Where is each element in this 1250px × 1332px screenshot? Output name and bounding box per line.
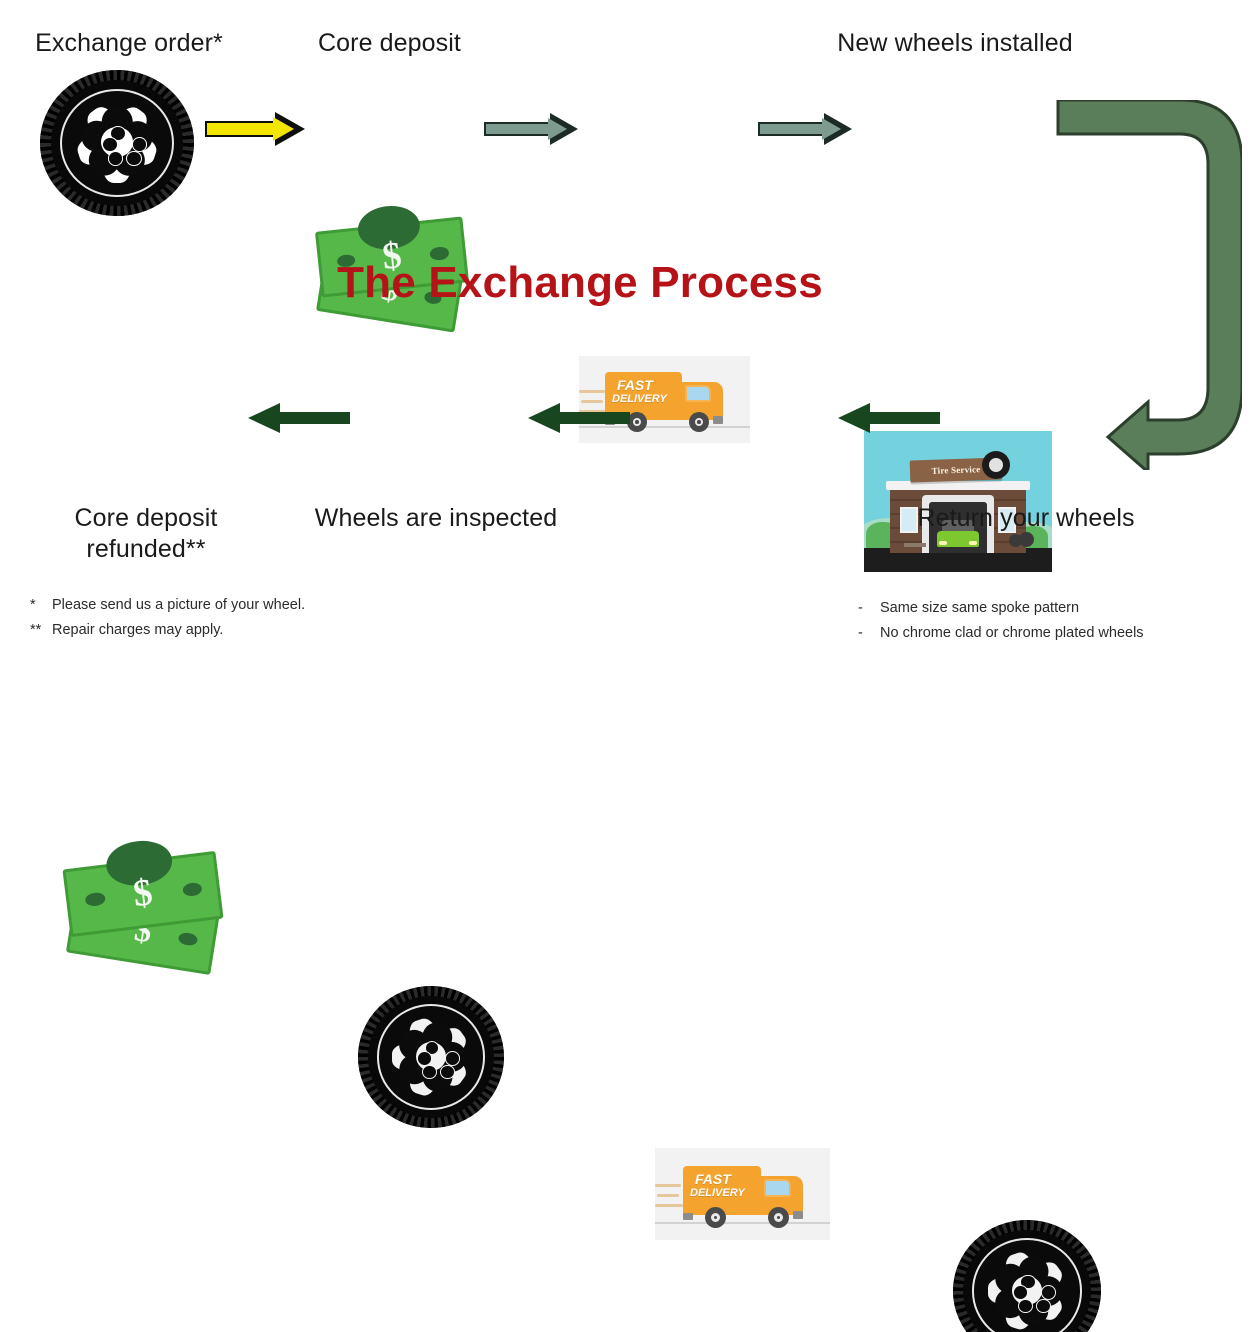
footnote-marker: * [30, 593, 52, 618]
arrow-inspect-to-refund [248, 403, 350, 433]
footnotes-left: *Please send us a picture of your wheel.… [30, 593, 490, 643]
truck-text-fast: FAST [617, 378, 653, 393]
cash-money-icon-refund: $ $ [60, 852, 236, 986]
truck-rear-wheel [705, 1207, 726, 1228]
footnote-item: -Same size same spoke pattern [858, 596, 1250, 621]
tire-service-shop-icon: Tire Service [864, 431, 1052, 572]
shop-roof [886, 481, 1030, 490]
truck-text-fast: FAST [695, 1172, 731, 1187]
exchange-process-diagram: Exchange order* Core deposit New wheels … [0, 0, 1250, 666]
arrow-return-to-truck [838, 403, 940, 433]
truck-rear-wheel [627, 412, 647, 432]
alloy-wheel-icon [40, 70, 194, 216]
arrow-truck-to-inspect [528, 403, 630, 433]
footnote-marker: ** [30, 618, 52, 643]
footnote-item: **Repair charges may apply. [30, 618, 490, 643]
step-label-exchange-order: Exchange order* [0, 28, 258, 59]
wheel-face [65, 93, 170, 192]
step-label-core-deposit: Core deposit [282, 28, 497, 59]
page-title-text: The Exchange Process [0, 258, 1160, 308]
footnotes-right: -Same size same spoke pattern -No chrome… [858, 596, 1250, 646]
footnote-text: No chrome clad or chrome plated wheels [880, 625, 1144, 641]
truck-front-wheel [689, 412, 709, 432]
step-label-core-deposit-refunded: Core deposit refunded** [20, 503, 272, 564]
truck-window [764, 1179, 791, 1197]
step-label-return-your-wheels: Return your wheels [895, 503, 1157, 534]
footnote-marker: - [858, 596, 880, 621]
truck-front-wheel [768, 1207, 789, 1228]
alloy-wheel-icon-return [953, 1220, 1101, 1332]
shop-sign-tire-icon [982, 451, 1010, 479]
page-title: The Exchange Process [0, 258, 1160, 308]
footnote-text: Repair charges may apply. [52, 622, 223, 638]
delivery-truck-icon-return: FAST DELIVERY [655, 1148, 830, 1240]
arrow-order-to-deposit [205, 112, 305, 146]
step-label-new-wheels-installed: New wheels installed [800, 28, 1110, 59]
footnote-text: Please send us a picture of your wheel. [52, 597, 305, 613]
truck-text-delivery: DELIVERY [690, 1188, 745, 1200]
step-label-wheels-inspected: Wheels are inspected [300, 503, 572, 534]
alloy-wheel-icon-inspected [358, 986, 504, 1128]
arrow-deposit-to-truck [484, 112, 580, 146]
footnote-item: -No chrome clad or chrome plated wheels [858, 621, 1250, 646]
footnote-marker: - [858, 621, 880, 646]
footnote-text: Same size same spoke pattern [880, 600, 1079, 616]
truck-window [685, 385, 711, 402]
arrow-truck-to-shop [758, 112, 854, 146]
footnote-item: *Please send us a picture of your wheel. [30, 593, 490, 618]
